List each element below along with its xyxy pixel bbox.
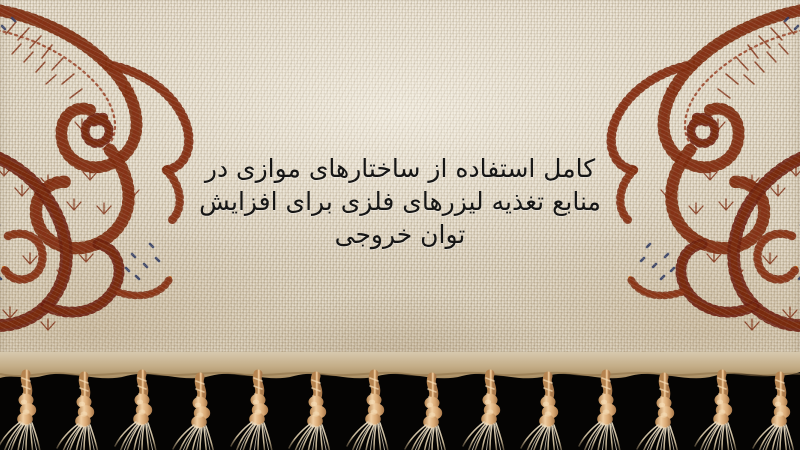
slide-title-line-2: منابع تغذیه لیزرهای فلزی برای افزایش: [160, 185, 640, 218]
slide-title-line-3: توان خروجی: [160, 218, 640, 251]
slide-canvas: کامل استفاده از ساختارهای موازی در منابع…: [0, 0, 800, 450]
slide-title-line-1: کامل استفاده از ساختارهای موازی در: [160, 152, 640, 185]
tassel-fringe: [0, 352, 800, 450]
slide-title: کامل استفاده از ساختارهای موازی در منابع…: [0, 152, 800, 251]
